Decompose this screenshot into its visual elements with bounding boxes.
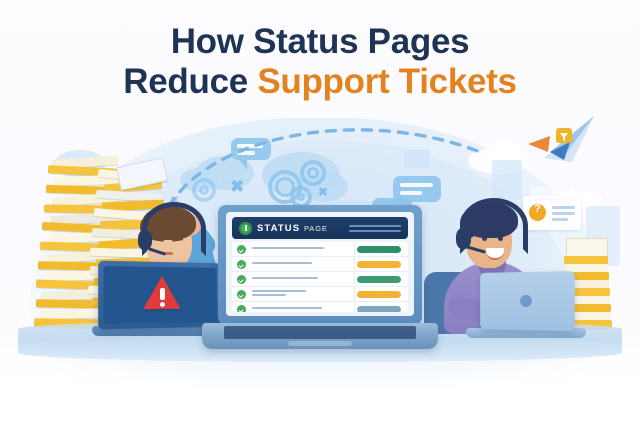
status-laptop-base [202, 323, 438, 349]
title-line-1: How Status Pages [0, 22, 640, 62]
paper-plane-icon [520, 112, 598, 174]
status-row-label [252, 290, 357, 298]
check-circle-icon [237, 245, 246, 254]
laptop-trackpad[interactable] [288, 341, 352, 346]
status-page-screen[interactable]: STATUS PAGE [226, 212, 414, 316]
left-laptop-lid [98, 261, 221, 330]
status-page-rows [232, 242, 408, 312]
status-row-label [252, 247, 357, 251]
status-row-label [252, 277, 357, 281]
title-line-2: Reduce Support Tickets [0, 62, 640, 102]
right-laptop-lid [480, 271, 575, 331]
check-circle-icon [237, 275, 246, 284]
status-page-brand-main: STATUS [257, 223, 300, 234]
status-row[interactable] [232, 287, 408, 302]
status-badge [357, 246, 401, 253]
status-badge [357, 291, 401, 298]
status-row-label [252, 307, 357, 311]
status-badge [357, 276, 401, 283]
status-page-brand-sub: PAGE [304, 224, 328, 233]
status-row[interactable] [232, 302, 408, 312]
warning-triangle-icon [143, 276, 181, 309]
title-line-2-accent: Support Tickets [257, 62, 516, 101]
status-row[interactable] [232, 257, 408, 272]
laptop-keyboard[interactable] [224, 326, 416, 339]
status-row[interactable] [232, 242, 408, 257]
status-page-logo-icon [239, 222, 252, 235]
status-row[interactable] [232, 272, 408, 287]
status-row-label [252, 262, 357, 266]
status-laptop-lid: STATUS PAGE [218, 205, 422, 325]
status-badge [357, 261, 401, 268]
check-circle-icon [237, 290, 246, 299]
status-page-header: STATUS PAGE [232, 217, 408, 239]
status-page-headline-lines [349, 225, 401, 234]
check-circle-icon [237, 260, 246, 269]
status-badge [357, 306, 401, 313]
status-page-brand: STATUS PAGE [257, 223, 328, 234]
illustration-canvas: ✖ ✖ ✖ [0, 0, 640, 427]
status-page-laptop: STATUS PAGE [218, 205, 422, 360]
check-circle-icon [237, 305, 246, 313]
title-line-2-plain: Reduce [123, 62, 257, 101]
page-title: How Status Pages Reduce Support Tickets [0, 22, 640, 102]
laptop-logo [520, 295, 532, 307]
